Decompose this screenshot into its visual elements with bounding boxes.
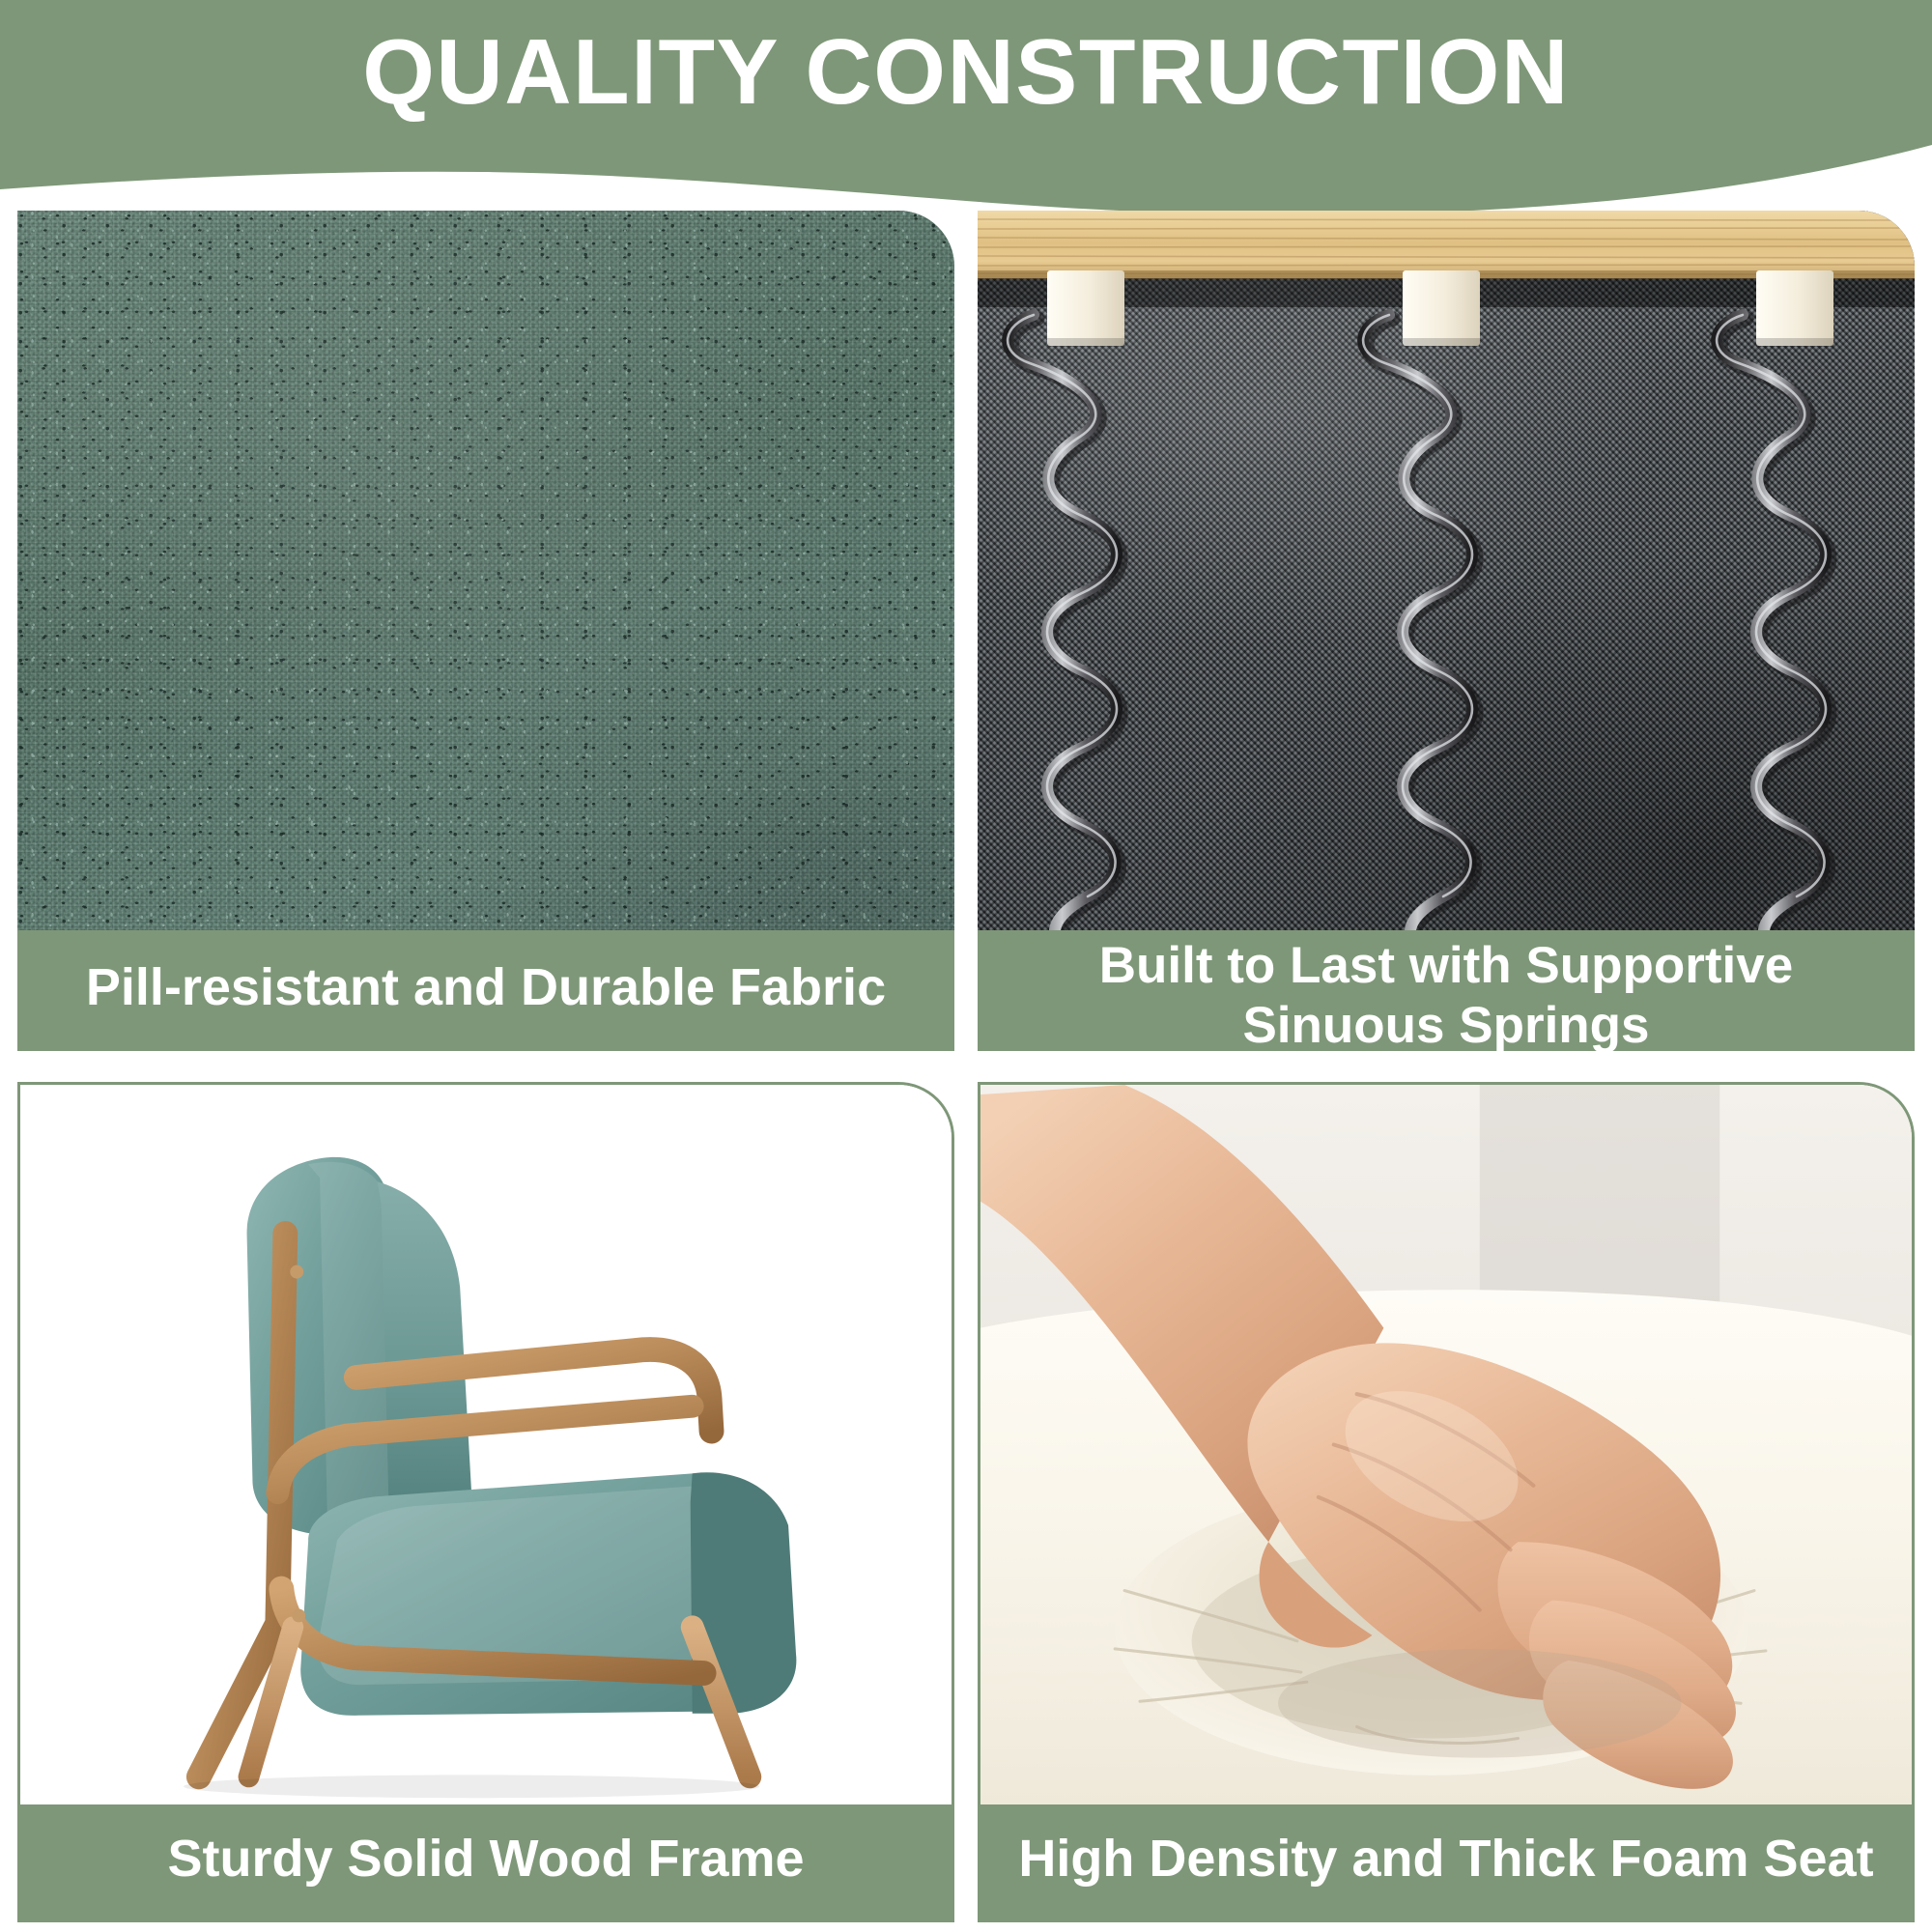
chair-scene (20, 1085, 952, 1804)
chair-peg-lower (292, 1608, 305, 1622)
springs-illustration (978, 211, 1915, 930)
springs-photo (978, 211, 1915, 930)
springs-scene (978, 211, 1915, 930)
feature-card-foam-seat: High Density and Thick Foam Seat (978, 1082, 1915, 1922)
header-banner: QUALITY CONSTRUCTION (0, 0, 1932, 222)
feature-card-grid: Pill-resistant and Durable Fabric (17, 211, 1915, 1922)
chair-floor-shadow (184, 1775, 759, 1798)
page-title: QUALITY CONSTRUCTION (0, 0, 1932, 145)
caption-wood-frame: Sturdy Solid Wood Frame (20, 1804, 952, 1919)
clip-left (1047, 270, 1124, 346)
foam-scene (980, 1085, 1912, 1804)
chair-photo (20, 1085, 952, 1804)
caption-fabric: Pill-resistant and Durable Fabric (17, 930, 954, 1051)
armchair-illustration (20, 1085, 952, 1804)
feature-card-springs: Built to Last with Supportive Sinuous Sp… (978, 211, 1915, 1051)
clip-right (1756, 270, 1833, 346)
fabric-texture-swatch (17, 211, 954, 930)
fabric-photo (17, 211, 954, 930)
chair-peg-upper (290, 1265, 303, 1279)
feature-card-wood-frame: Sturdy Solid Wood Frame (17, 1082, 954, 1922)
hand-pressing-foam-illustration (980, 1085, 1912, 1804)
clip-center (1403, 270, 1480, 346)
foam-photo (980, 1085, 1912, 1804)
caption-foam-seat: High Density and Thick Foam Seat (980, 1804, 1912, 1919)
infographic-page: QUALITY CONSTRUCTION Pill-resistant and … (0, 0, 1932, 1932)
feature-card-fabric: Pill-resistant and Durable Fabric (17, 211, 954, 1051)
caption-springs: Built to Last with Supportive Sinuous Sp… (978, 930, 1915, 1051)
hand-shadow-on-foam (1278, 1649, 1681, 1758)
spring-shadows (1011, 319, 1830, 930)
